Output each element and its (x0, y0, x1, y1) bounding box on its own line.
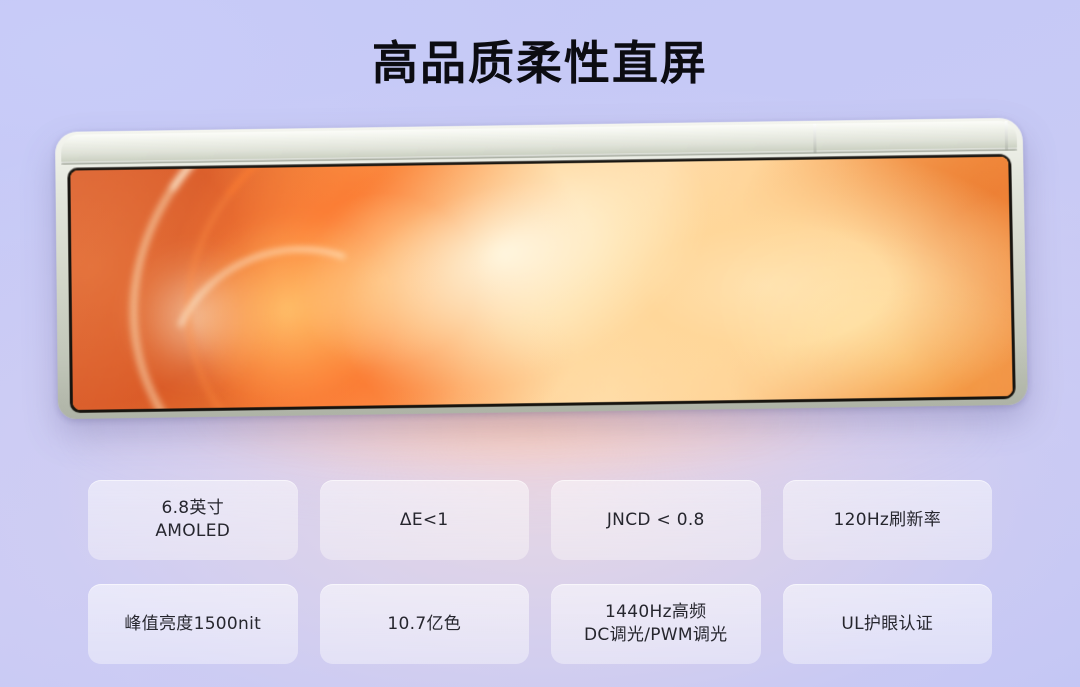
phone-device (55, 118, 1028, 420)
spec-card-brightness: 峰值亮度1500nit (88, 584, 298, 664)
spec-card-ul-cert: UL护眼认证 (783, 584, 993, 664)
antenna-seam-icon (813, 124, 817, 154)
spec-card-refresh: 120Hz刷新率 (783, 480, 993, 560)
phone-screen (70, 157, 1012, 410)
phone-bezel (67, 154, 1015, 413)
phone-frame (55, 118, 1028, 420)
screen-sheen (70, 157, 1012, 410)
spec-card-delta-e: ΔE<1 (320, 480, 530, 560)
page-title: 高品质柔性直屏 (0, 36, 1080, 91)
promo-page: 高品质柔性直屏 (0, 0, 1080, 687)
spec-card-size: 6.8英寸 AMOLED (88, 480, 298, 560)
spec-card-grid: 6.8英寸 AMOLED ΔE<1 JNCD < 0.8 120Hz刷新率 峰值… (88, 480, 992, 664)
spec-card-dimming: 1440Hz高频 DC调光/PWM调光 (551, 584, 761, 664)
spec-card-colors: 10.7亿色 (320, 584, 530, 664)
spec-card-jncd: JNCD < 0.8 (551, 480, 761, 560)
antenna-seam-icon (1005, 121, 1009, 151)
